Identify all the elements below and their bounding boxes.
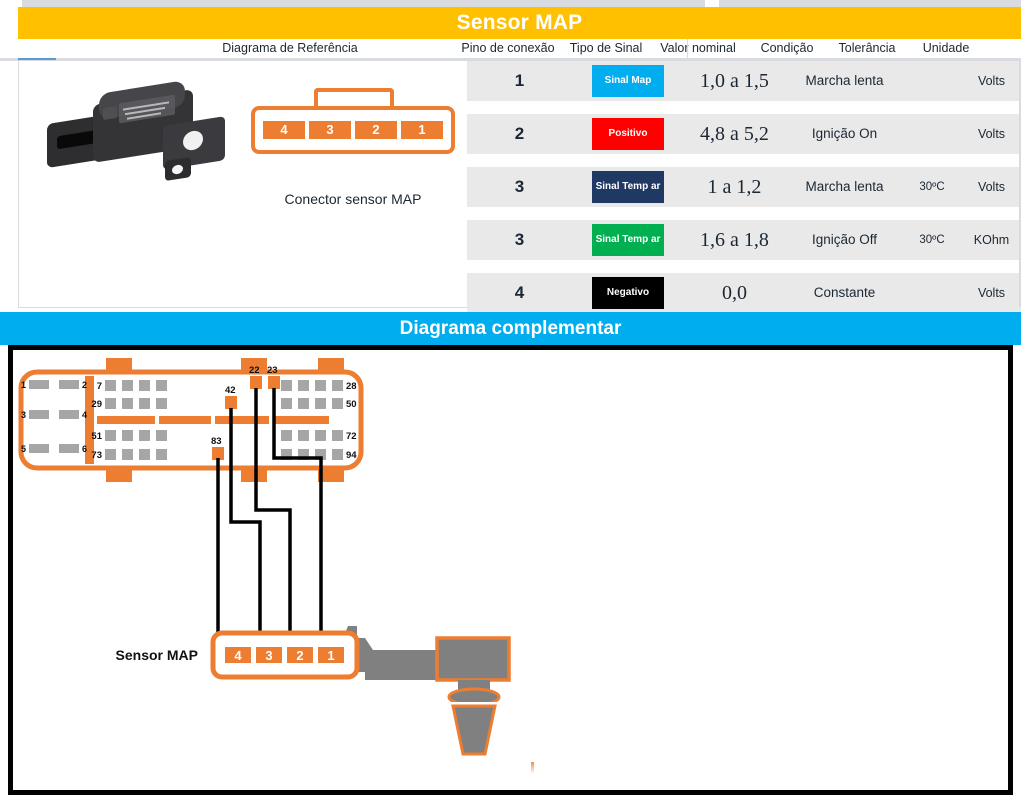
cell-unit: Volts: [962, 114, 1021, 154]
column-header-unidade: Unidade: [907, 39, 985, 58]
ecu-pin-22: [250, 376, 262, 389]
ecu-left-pin-5: 5: [21, 444, 26, 454]
ecu-left-pin-3: 3: [21, 410, 26, 420]
cell-unit: KOhm: [962, 220, 1021, 260]
connector-caption: Conector sensor MAP: [251, 191, 455, 207]
cell-pin: 2: [467, 114, 572, 154]
top-strip-gap: [705, 0, 719, 7]
cell-pin: 3: [467, 167, 572, 207]
cell-signal-type: Positivo: [572, 114, 682, 154]
table-row-spacer: [467, 260, 1021, 273]
cell-tolerance: 30ºC: [902, 167, 962, 207]
cell-nominal-value: 1 a 1,2: [682, 167, 787, 207]
ecu-pin-23-label: 23: [267, 365, 278, 376]
table-column-headers: Diagrama de ReferênciaPino de conexãoTip…: [18, 39, 1021, 58]
signal-type-badge: Sinal Map: [592, 65, 664, 97]
wiring-diagram: 1 2 3 4 5 6: [13, 350, 1008, 790]
ecu-row-label-51: 51: [91, 431, 102, 442]
cell-tolerance: 30ºC: [902, 220, 962, 260]
header-accent-underline: [18, 58, 56, 60]
column-header-tipo: Tipo de Sinal: [563, 39, 649, 58]
complementary-diagram-frame: 1 2 3 4 5 6: [8, 345, 1013, 795]
table-row: 2Positivo4,8 a 5,2Ignição OnVolts: [467, 114, 1021, 154]
column-header-condicao: Condição: [747, 39, 827, 58]
cell-unit: Volts: [962, 273, 1021, 313]
cell-pin: 1: [467, 61, 572, 101]
sensor-nozzle: [453, 706, 495, 754]
table-row: 4Negativo0,0ConstanteVolts: [467, 273, 1021, 313]
map-connector-schematic: 4321: [251, 106, 455, 154]
ecu-mid-bar-2: [159, 416, 211, 424]
page-title-bar: Sensor MAP: [18, 7, 1021, 39]
complementary-banner-title: Diagrama complementar: [0, 312, 1021, 345]
reference-connector-pin-2: 2: [355, 121, 397, 139]
cell-condition: Ignição Off: [787, 220, 902, 260]
top-strip: [0, 0, 1021, 7]
reference-connector-pin-4: 4: [263, 121, 305, 139]
sensor-connector: 4 3 2 1: [213, 633, 357, 677]
table-row-spacer: [467, 154, 1021, 167]
sensor-map-datasheet-page: Sensor MAP Diagrama de ReferênciaPino de…: [0, 0, 1021, 803]
reference-connector-pin-1: 1: [401, 121, 443, 139]
ecu-left-pin-6: 6: [82, 444, 87, 454]
column-header-valor: Valor nominal: [649, 39, 747, 58]
ecu-pin-23: [268, 376, 280, 389]
ecu-pin-22-label: 22: [249, 365, 260, 376]
cell-unit: Volts: [962, 167, 1021, 207]
ecu-left-pin-2: 2: [82, 380, 87, 390]
cell-signal-type: Sinal Map: [572, 61, 682, 101]
cell-nominal-value: 0,0: [682, 273, 787, 313]
header-separator: [687, 39, 688, 58]
signal-type-badge: Positivo: [592, 118, 664, 150]
cell-nominal-value: 4,8 a 5,2: [682, 114, 787, 154]
cell-pin: 3: [467, 220, 572, 260]
table-row: 1Sinal Map1,0 a 1,5Marcha lentaVolts: [467, 61, 1021, 101]
signal-type-badge: Sinal Temp ar: [592, 171, 664, 203]
ecu-row-label-94: 94: [346, 450, 357, 461]
column-header-pino: Pino de conexão: [453, 39, 563, 58]
ecu-row-label-7: 7: [97, 381, 102, 392]
cell-nominal-value: 1,0 a 1,5: [682, 61, 787, 101]
signal-spec-table: 1Sinal Map1,0 a 1,5Marcha lentaVolts2Pos…: [467, 61, 1021, 313]
sensor-housing-block: [437, 638, 509, 680]
page-title: Sensor MAP: [18, 7, 1021, 39]
complementary-banner: Diagrama complementar: [0, 312, 1021, 345]
cell-pin: 4: [467, 273, 572, 313]
cell-nominal-value: 1,6 a 1,8: [682, 220, 787, 260]
cell-signal-type: Negativo: [572, 273, 682, 313]
ecu-left-pin-4: 4: [82, 410, 87, 420]
ecu-mid-bar-4: [273, 416, 329, 424]
table-row: 3Sinal Temp ar1,6 a 1,8Ignição Off30ºCKO…: [467, 220, 1021, 260]
reference-diagram-panel: 4321 Conector sensor MAP: [18, 61, 468, 308]
ecu-row-label-50: 50: [346, 399, 357, 410]
cell-tolerance: [902, 61, 962, 101]
cell-condition: Marcha lenta: [787, 167, 902, 207]
page-ornament: [531, 762, 534, 774]
cell-condition: Ignição On: [787, 114, 902, 154]
table-row-spacer: [467, 101, 1021, 114]
column-header-tolerancia: Tolerância: [827, 39, 907, 58]
sensor-pin-3: 3: [265, 648, 272, 663]
cell-condition: Marcha lenta: [787, 61, 902, 101]
ecu-row-label-72: 72: [346, 431, 357, 442]
sensor-pin-4: 4: [234, 648, 242, 663]
ecu-mid-bar-3: [215, 416, 269, 424]
ecu-pin-83-label: 83: [211, 436, 222, 447]
sensor-pin-1: 1: [327, 648, 334, 663]
cell-signal-type: Sinal Temp ar: [572, 220, 682, 260]
sensor-map-label: Sensor MAP: [116, 647, 198, 663]
ecu-mid-bar-1: [97, 416, 155, 424]
map-sensor-photo: [37, 83, 247, 193]
signal-type-badge: Sinal Temp ar: [592, 224, 664, 256]
ecu-row-label-29: 29: [91, 399, 102, 410]
signal-type-badge: Negativo: [592, 277, 664, 309]
cell-signal-type: Sinal Temp ar: [572, 167, 682, 207]
ecu-pin-42-label: 42: [225, 385, 236, 396]
ecu-connector: 1 2 3 4 5 6: [21, 358, 361, 482]
table-row: 3Sinal Temp ar1 a 1,2Marcha lenta30ºCVol…: [467, 167, 1021, 207]
ecu-left-pin-1: 1: [21, 380, 26, 390]
reference-connector-pin-3: 3: [309, 121, 351, 139]
ecu-pin-42: [225, 396, 237, 409]
ecu-row-label-73: 73: [91, 450, 102, 461]
column-header-diagrama: Diagrama de Referência: [70, 39, 510, 58]
sensor-pin-2: 2: [296, 648, 303, 663]
cell-tolerance: [902, 114, 962, 154]
cell-tolerance: [902, 273, 962, 313]
top-strip-left-cap: [0, 0, 22, 7]
cell-unit: Volts: [962, 61, 1021, 101]
cell-condition: Constante: [787, 273, 902, 313]
ecu-row-label-28: 28: [346, 381, 357, 392]
table-row-spacer: [467, 207, 1021, 220]
